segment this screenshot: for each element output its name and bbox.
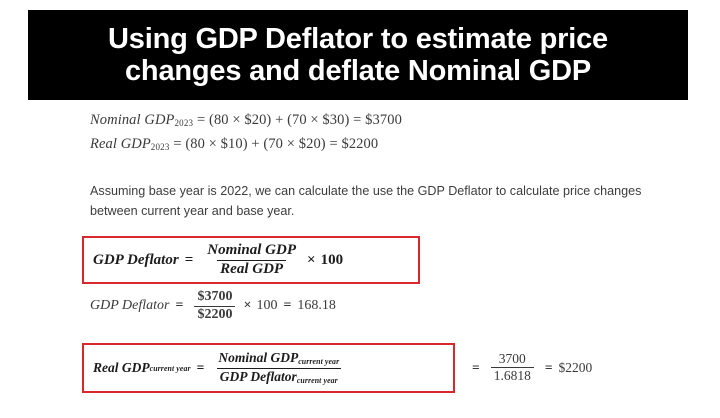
gdp-deflator-numerator: Nominal GDP: [204, 243, 299, 260]
gdp-deflator-times: ×: [307, 252, 316, 269]
nominal-gdp-expression: (80 × $20) + (70 × $30): [209, 112, 349, 128]
gdp-deflator-computation: GDP Deflator = $3700 $2200 × 100 = 168.1…: [90, 290, 336, 323]
real-gdp-formula-equals: =: [197, 360, 205, 376]
page-title: Using GDP Deflator to estimate price cha…: [94, 23, 622, 88]
real-gdp-formula-lhs: Real GDP: [93, 360, 150, 376]
real-gdp-computation: = 3700 1.6818 = $2200: [466, 352, 592, 384]
real-gdp-equals: =: [173, 136, 181, 152]
gdp-deflator-value-fraction: $3700 $2200: [194, 290, 235, 323]
real-gdp-formula-numerator-wrap: Nominal GDPcurrent year: [215, 351, 342, 367]
real-gdp-label: Real GDP: [90, 136, 151, 152]
real-gdp-formula-numerator-subscript: current year: [298, 357, 339, 366]
real-gdp-value-denominator: 1.6818: [491, 367, 534, 383]
nominal-gdp-equals: =: [197, 112, 205, 128]
equation-nominal-gdp: Nominal GDP2023 = (80 × $20) + (70 × $30…: [90, 112, 402, 129]
real-gdp-expression: (80 × $10) + (70 × $20): [185, 136, 325, 152]
gdp-deflator-value-lhs: GDP Deflator: [90, 298, 169, 314]
gdp-deflator-denominator: Real GDP: [217, 260, 286, 278]
gdp-deflator-lhs: GDP Deflator: [93, 252, 179, 269]
title-line-1: Using GDP Deflator to estimate price: [108, 23, 608, 55]
real-gdp-value-numerator: 3700: [496, 352, 529, 367]
gdp-deflator-value-factor: 100: [256, 298, 277, 314]
gdp-deflator-value-equals: =: [175, 298, 183, 314]
real-gdp-formula-denominator: GDP Deflator: [220, 369, 297, 384]
nominal-gdp-result-equals: =: [353, 112, 361, 128]
real-gdp-formula: Real GDPcurrent year = Nominal GDPcurren…: [93, 351, 347, 385]
real-gdp-subscript: 2023: [151, 142, 170, 152]
real-gdp-value-fraction: 3700 1.6818: [491, 352, 534, 384]
real-gdp-final-result: $2200: [559, 360, 593, 376]
real-gdp-formula-lhs-subscript: current year: [150, 364, 191, 373]
real-gdp-result-equals: =: [329, 136, 337, 152]
title-banner: Using GDP Deflator to estimate price cha…: [28, 10, 688, 100]
real-gdp-formula-denominator-subscript: current year: [297, 375, 338, 384]
nominal-gdp-result: $3700: [365, 112, 402, 128]
real-gdp-formula-box: Real GDPcurrent year = Nominal GDPcurren…: [82, 343, 455, 393]
gdp-deflator-value-denominator: $2200: [194, 306, 235, 323]
explanatory-paragraph: Assuming base year is 2022, we can calcu…: [90, 182, 655, 222]
gdp-deflator-factor: 100: [321, 252, 344, 269]
real-gdp-result-equals: =: [472, 360, 480, 376]
gdp-deflator-value-numerator: $3700: [194, 290, 235, 306]
gdp-deflator-equals: =: [185, 252, 194, 269]
gdp-deflator-formula-box: GDP Deflator = Nominal GDP Real GDP × 10…: [82, 236, 420, 284]
real-gdp-result: $2200: [341, 136, 378, 152]
gdp-deflator-value-result-equals: =: [283, 298, 291, 314]
nominal-gdp-label: Nominal GDP: [90, 112, 174, 128]
nominal-gdp-subscript: 2023: [174, 118, 193, 128]
real-gdp-final-equals: =: [545, 360, 553, 376]
gdp-deflator-fraction: Nominal GDP Real GDP: [204, 243, 299, 278]
equation-real-gdp: Real GDP2023 = (80 × $10) + (70 × $20) =…: [90, 136, 378, 153]
real-gdp-formula-denominator-wrap: GDP Deflatorcurrent year: [217, 368, 341, 385]
title-line-2: changes and deflate Nominal GDP: [125, 55, 591, 87]
gdp-deflator-value-times: ×: [243, 298, 251, 314]
gdp-deflator-formula: GDP Deflator = Nominal GDP Real GDP × 10…: [93, 243, 343, 278]
real-gdp-formula-numerator: Nominal GDP: [218, 350, 298, 365]
real-gdp-formula-fraction: Nominal GDPcurrent year GDP Deflatorcurr…: [215, 351, 342, 385]
gdp-deflator-value-result: 168.18: [297, 298, 336, 314]
